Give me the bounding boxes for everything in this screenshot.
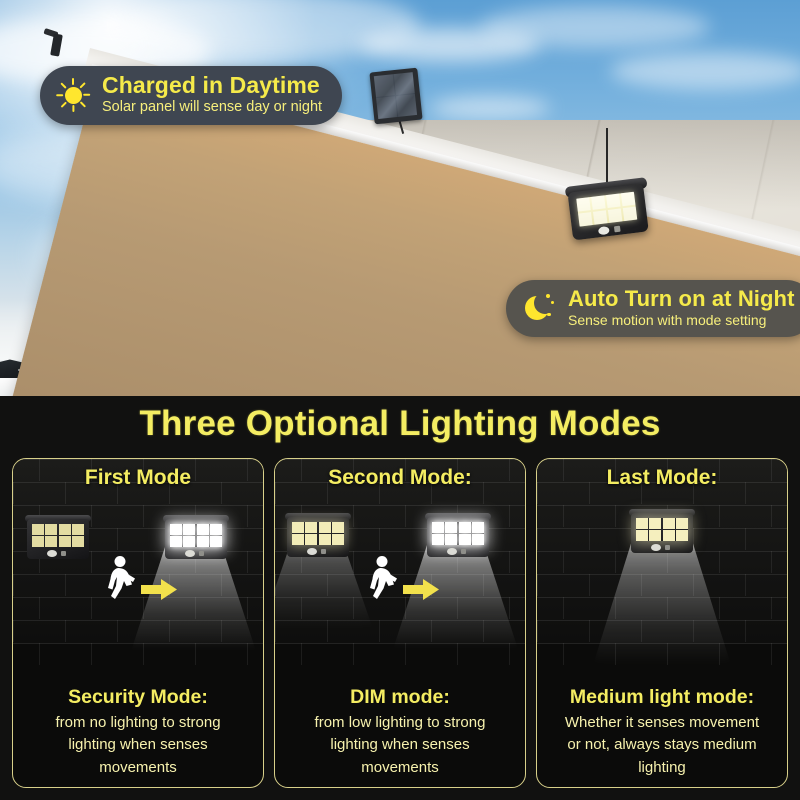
brick-joint <box>275 528 276 550</box>
caption-line: or not, always stays medium <box>545 734 779 757</box>
brick-joint <box>719 643 720 665</box>
brick-joint <box>91 597 92 619</box>
badge-daytime: Charged in Daytime Solar panel will sens… <box>40 66 342 125</box>
brick-joint <box>589 574 590 596</box>
mode-button <box>461 549 466 554</box>
caption-heading: Medium light mode: <box>545 685 779 709</box>
brick-joint <box>13 528 14 550</box>
cloud <box>480 6 710 48</box>
brick-joint <box>431 620 432 642</box>
lamp-right-bright <box>165 515 227 561</box>
solar-panel <box>369 68 422 125</box>
brick-joint <box>379 620 380 642</box>
brick-joint <box>563 643 564 665</box>
brick-joint <box>589 620 590 642</box>
brick-joint <box>457 643 458 665</box>
sun-icon <box>56 78 90 112</box>
brick-joint <box>509 551 510 573</box>
caption-line: lighting when senses <box>21 734 255 757</box>
brick-joint <box>667 597 668 619</box>
mode-button <box>61 551 66 556</box>
brick-joint <box>509 643 510 665</box>
brick-joint <box>615 597 616 619</box>
pir-sensor <box>47 550 57 557</box>
mode-card-caption: Security Mode: from no lighting to stron… <box>13 685 263 779</box>
brick-joint <box>353 597 354 619</box>
brick-joint <box>563 505 564 527</box>
brick-joint <box>719 597 720 619</box>
badge-night-title: Auto Turn on at Night <box>568 287 795 312</box>
caption-line: from low lighting to strong <box>283 712 517 735</box>
badge-daytime-subtitle: Solar panel will sense day or night <box>102 99 322 116</box>
brick-joint <box>13 574 14 596</box>
brick-joint <box>615 505 616 527</box>
brick-joint <box>39 597 40 619</box>
mode-card-title: First Mode <box>13 466 263 490</box>
mode-card-title: Second Mode: <box>275 466 525 490</box>
brick-joint <box>91 505 92 527</box>
mode-card-second[interactable]: Second Mode: <box>274 458 526 788</box>
brick-joint <box>353 505 354 527</box>
brick-joint <box>169 620 170 642</box>
mode-card-last[interactable]: Last Mode: Medium light mode: Whether it… <box>536 458 788 788</box>
product-infographic: Charged in Daytime Solar panel will sens… <box>0 0 800 800</box>
brick-joint <box>667 643 668 665</box>
caption-line: Whether it senses movement <box>545 712 779 735</box>
brick-joint <box>301 597 302 619</box>
brick-joint <box>457 597 458 619</box>
caption-heading: Security Mode: <box>21 685 255 709</box>
brick-joint <box>13 620 14 642</box>
brick-joint <box>483 620 484 642</box>
brick-joint <box>39 643 40 665</box>
brick-joint <box>117 528 118 550</box>
flood-light-cable <box>606 128 608 182</box>
mode-cards: First Mode <box>12 458 788 788</box>
brick-joint <box>615 643 616 665</box>
brick-joint <box>353 643 354 665</box>
mode-card-title: Last Mode: <box>537 466 787 490</box>
direction-arrow-icon <box>141 579 177 599</box>
brick-joint <box>405 505 406 527</box>
caption-line: lighting <box>545 757 779 780</box>
mode-button <box>321 549 326 554</box>
product-photo: Charged in Daytime Solar panel will sens… <box>0 0 800 396</box>
brick-joint <box>91 643 92 665</box>
pir-sensor <box>651 544 661 551</box>
walking-person-icon <box>361 555 407 603</box>
badge-night-subtitle: Sense motion with mode setting <box>568 312 795 329</box>
mode-button <box>199 551 204 556</box>
badge-daytime-title: Charged in Daytime <box>102 73 322 99</box>
brick-joint <box>641 620 642 642</box>
brick-joint <box>247 597 248 619</box>
mode-card-caption: DIM mode: from low lighting to strong li… <box>275 685 525 779</box>
lamp-left-off <box>27 515 89 561</box>
brick-joint <box>589 528 590 550</box>
lighting-modes-section: Three Optional Lighting Modes First Mode <box>0 396 800 800</box>
brick-joint <box>563 551 564 573</box>
brick-joint <box>719 551 720 573</box>
caption-line: movements <box>283 757 517 780</box>
brick-joint <box>771 597 772 619</box>
lamp-left-dim <box>287 513 349 559</box>
brick-joint <box>195 597 196 619</box>
flood-light <box>567 178 650 245</box>
direction-arrow-icon <box>403 579 439 599</box>
brick-joint <box>379 528 380 550</box>
brick-joint <box>143 505 144 527</box>
brick-joint <box>327 574 328 596</box>
lamp-center-medium <box>631 509 693 555</box>
brick-joint <box>143 643 144 665</box>
brick-joint <box>275 574 276 596</box>
brick-joint <box>563 597 564 619</box>
brick-joint <box>509 597 510 619</box>
mode-card-first[interactable]: First Mode <box>12 458 264 788</box>
brick-joint <box>693 620 694 642</box>
pir-sensor <box>447 548 457 555</box>
brick-joint <box>641 574 642 596</box>
brick-joint <box>247 505 248 527</box>
caption-line: lighting when senses <box>283 734 517 757</box>
brick-joint <box>615 551 616 573</box>
brick-joint <box>537 528 538 550</box>
brick-joint <box>405 643 406 665</box>
brick-joint <box>745 574 746 596</box>
brick-joint <box>91 551 92 573</box>
brick-joint <box>221 574 222 596</box>
pir-sensor <box>307 548 317 555</box>
cloud <box>430 96 550 120</box>
cloud <box>610 52 800 90</box>
caption-line: from no lighting to strong <box>21 712 255 735</box>
mode-button <box>614 226 621 233</box>
mode-button <box>665 545 670 550</box>
brick-joint <box>771 551 772 573</box>
brick-joint <box>693 574 694 596</box>
brick-joint <box>771 505 772 527</box>
brick-joint <box>353 551 354 573</box>
section-heading: Three Optional Lighting Modes <box>0 404 800 444</box>
lamp-right-bright <box>427 513 489 559</box>
brick-joint <box>117 620 118 642</box>
brick-joint <box>65 620 66 642</box>
brick-joint <box>745 620 746 642</box>
brick-joint <box>327 620 328 642</box>
brick-joint <box>221 620 222 642</box>
brick-joint <box>745 528 746 550</box>
badge-night: Auto Turn on at Night Sense motion with … <box>506 280 800 337</box>
brick-joint <box>301 643 302 665</box>
mode-card-caption: Medium light mode: Whether it senses mov… <box>537 685 787 779</box>
brick-joint <box>719 505 720 527</box>
brick-joint <box>195 643 196 665</box>
moon-icon <box>522 291 556 325</box>
brick-joint <box>537 574 538 596</box>
caption-heading: DIM mode: <box>283 685 517 709</box>
brick-joint <box>275 620 276 642</box>
caption-line: movements <box>21 757 255 780</box>
brick-joint <box>65 574 66 596</box>
pir-sensor <box>185 550 195 557</box>
brick-joint <box>247 643 248 665</box>
brick-joint <box>247 551 248 573</box>
brick-joint <box>693 528 694 550</box>
brick-joint <box>483 574 484 596</box>
brick-joint <box>509 505 510 527</box>
walking-person-icon <box>99 555 145 603</box>
brick-joint <box>537 620 538 642</box>
brick-joint <box>771 643 772 665</box>
